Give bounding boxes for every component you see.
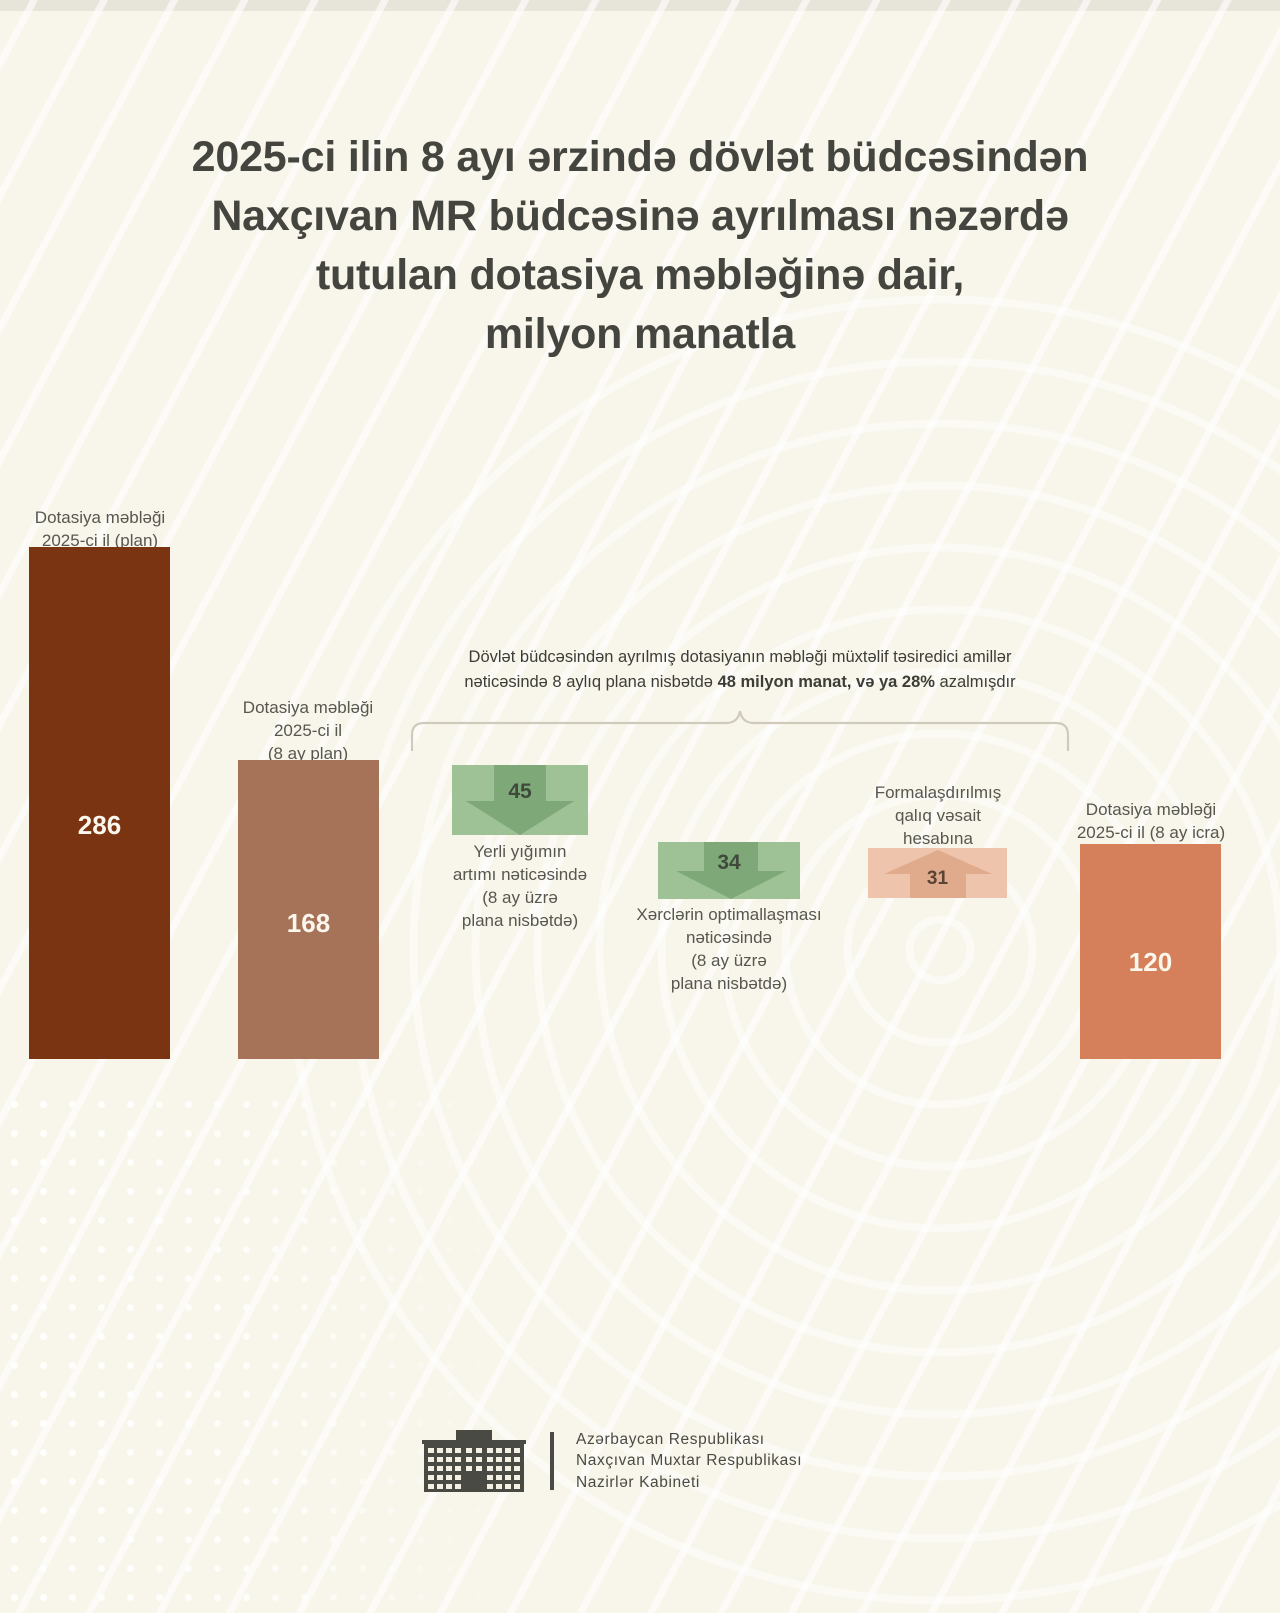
bar-label-8ay-plan-line-2: 2025-ci il <box>222 719 394 742</box>
factor-caption-yerli-yigim-line-3: (8 ay üzrə <box>440 886 600 909</box>
delta-annotation: Dövlət büdcəsindən ayrılmış dotasiyanın … <box>382 645 1098 695</box>
bar-label-8ay-plan-line-1: Dotasiya məbləği <box>222 696 394 719</box>
bar-label-8ay-plan: Dotasiya məbləği 2025-ci il (8 ay plan) <box>222 696 394 765</box>
infographic-canvas: 2025-ci ilin 8 ayı ərzində dövlət büdcəs… <box>0 0 1280 1613</box>
bar-dotasiya-8ay-plan[interactable]: 168 <box>238 760 379 1059</box>
factor-caption-qaliq-vesait: Formalaşdırılmış qalıq vəsait hesabına <box>858 781 1018 850</box>
footer-divider <box>550 1432 554 1490</box>
factor-box-xerclerin-optimallasmasi[interactable]: 34 <box>658 842 800 899</box>
bar-label-plan-line-1: Dotasiya məbləği <box>14 506 186 529</box>
factor-caption-yerli-yigim-line-2: artımı nəticəsində <box>440 863 600 886</box>
page-title-line-1: 2025-ci ilin 8 ayı ərzində dövlət büdcəs… <box>0 128 1280 187</box>
factor-caption-yerli-yigim-line-1: Yerli yığımın <box>440 840 600 863</box>
factor-caption-xerclerin-line-2: nəticəsində <box>620 926 838 949</box>
factor-caption-qaliq-line-2: qalıq vəsait <box>858 804 1018 827</box>
factor-caption-xerclerin-line-4: plana nisbətdə) <box>620 972 838 995</box>
factor-caption-yerli-yigim-line-4: plana nisbətdə) <box>440 909 600 932</box>
page-title: 2025-ci ilin 8 ayı ərzində dövlət büdcəs… <box>0 128 1280 364</box>
page-title-line-2: Naxçıvan MR büdcəsinə ayrılması nəzərdə <box>0 187 1280 246</box>
factor-caption-xerclerin-line-1: Xərclərin optimallaşması <box>620 903 838 926</box>
bar-label-plan: Dotasiya məbləği 2025-ci il (plan) <box>14 506 186 552</box>
page-title-line-3: tutulan dotasiya məbləğinə dair, <box>0 246 1280 305</box>
government-building-icon <box>420 1426 528 1496</box>
footer-org-line-3: Nazirlər Kabineti <box>576 1472 802 1494</box>
delta-annotation-suffix: azalmışdır <box>935 673 1016 691</box>
footer-org-line-1: Azərbaycan Respublikası <box>576 1429 802 1451</box>
factor-box-yerli-yigim[interactable]: 45 <box>452 765 588 835</box>
bar-value-8ay-icra: 120 <box>1080 947 1221 978</box>
delta-annotation-line-2: nəticəsində 8 aylıq plana nisbətdə 48 mi… <box>382 670 1098 695</box>
bar-value-8ay-plan: 168 <box>238 908 379 939</box>
factor-box-qaliq-vesait[interactable]: 31 <box>868 848 1007 898</box>
factor-caption-xerclerin-optimallasmasi: Xərclərin optimallaşması nəticəsində (8 … <box>620 903 838 995</box>
footer-org-name: Azərbaycan Respublikası Naxçıvan Muxtar … <box>576 1429 802 1494</box>
factor-value-yerli-yigim: 45 <box>508 780 531 804</box>
delta-annotation-highlight: 48 milyon manat, və ya 28% <box>718 673 935 691</box>
bar-dotasiya-plan[interactable]: 286 <box>29 547 170 1059</box>
page-title-line-4: milyon manatla <box>0 305 1280 364</box>
delta-annotation-prefix: nəticəsində 8 aylıq plana nisbətdə <box>464 673 717 691</box>
group-brace <box>410 705 1070 751</box>
bar-label-8ay-icra-line-1: Dotasiya məbləği <box>1060 798 1242 821</box>
factor-caption-qaliq-line-3: hesabına <box>858 827 1018 850</box>
factor-value-qaliq-vesait: 31 <box>927 868 948 890</box>
bar-value-plan: 286 <box>29 810 170 841</box>
bar-label-8ay-icra-line-2: 2025-ci il (8 ay icra) <box>1060 821 1242 844</box>
bar-label-8ay-icra: Dotasiya məbləği 2025-ci il (8 ay icra) <box>1060 798 1242 844</box>
delta-annotation-line-1: Dövlət büdcəsindən ayrılmış dotasiyanın … <box>382 645 1098 670</box>
factor-caption-xerclerin-line-3: (8 ay üzrə <box>620 949 838 972</box>
factor-caption-qaliq-line-1: Formalaşdırılmış <box>858 781 1018 804</box>
footer-org-line-2: Naxçıvan Muxtar Respublikası <box>576 1450 802 1472</box>
factor-value-xerclerin-optimallasmasi: 34 <box>717 851 740 875</box>
bar-dotasiya-8ay-icra[interactable]: 120 <box>1080 844 1221 1059</box>
footer-branding: Azərbaycan Respublikası Naxçıvan Muxtar … <box>420 1418 860 1504</box>
factor-caption-yerli-yigim: Yerli yığımın artımı nəticəsində (8 ay ü… <box>440 840 600 932</box>
